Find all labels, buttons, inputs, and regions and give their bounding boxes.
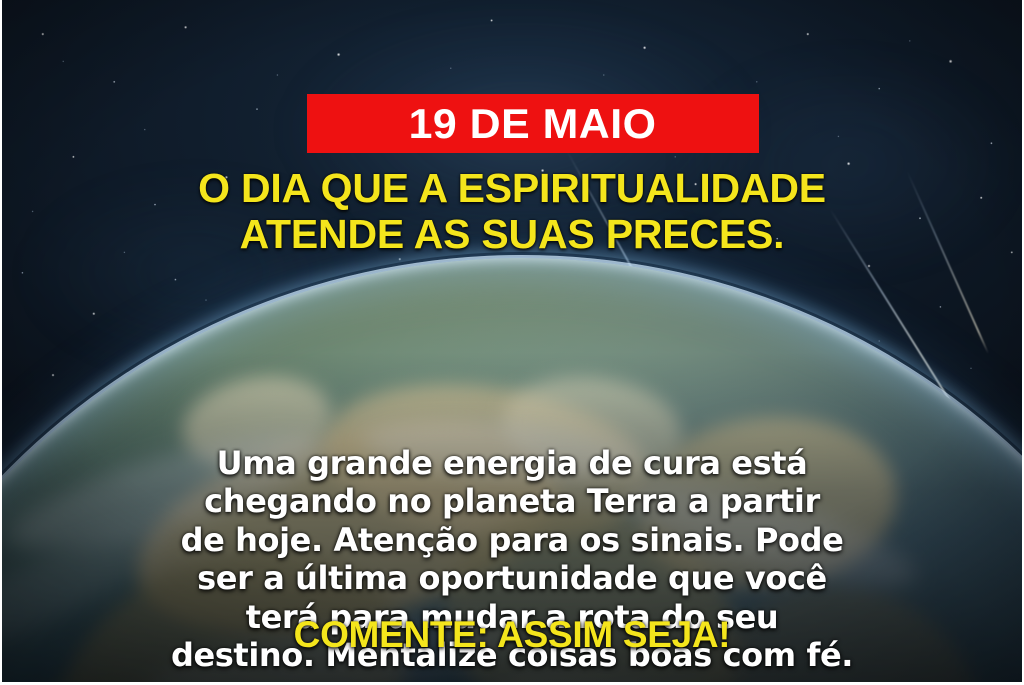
date-banner: 19 DE MAIO [307,94,759,153]
headline: O DIA QUE A ESPIRITUALIDADE ATENDE AS SU… [2,166,1022,258]
headline-line-1: O DIA QUE A ESPIRITUALIDADE [198,166,826,212]
call-to-action: COMENTE: ASSIM SEJA! [2,614,1022,656]
poster-canvas: 19 DE MAIO O DIA QUE A ESPIRITUALIDADE A… [0,0,1024,685]
cta-label: COMENTE: ASSIM SEJA! [294,614,731,655]
body-line-3: de hoje. Atenção para os sinais. Pode [181,521,844,559]
poster-content: 19 DE MAIO O DIA QUE A ESPIRITUALIDADE A… [2,0,1022,682]
date-banner-label: 19 DE MAIO [409,103,657,145]
body-line-4: ser a última oportunidade que você [197,559,827,597]
body-line-1: Uma grande energia de cura está [217,444,808,482]
body-line-2: chegando no planeta Terra a partir [204,482,820,520]
headline-line-2: ATENDE AS SUAS PRECES. [240,212,785,258]
